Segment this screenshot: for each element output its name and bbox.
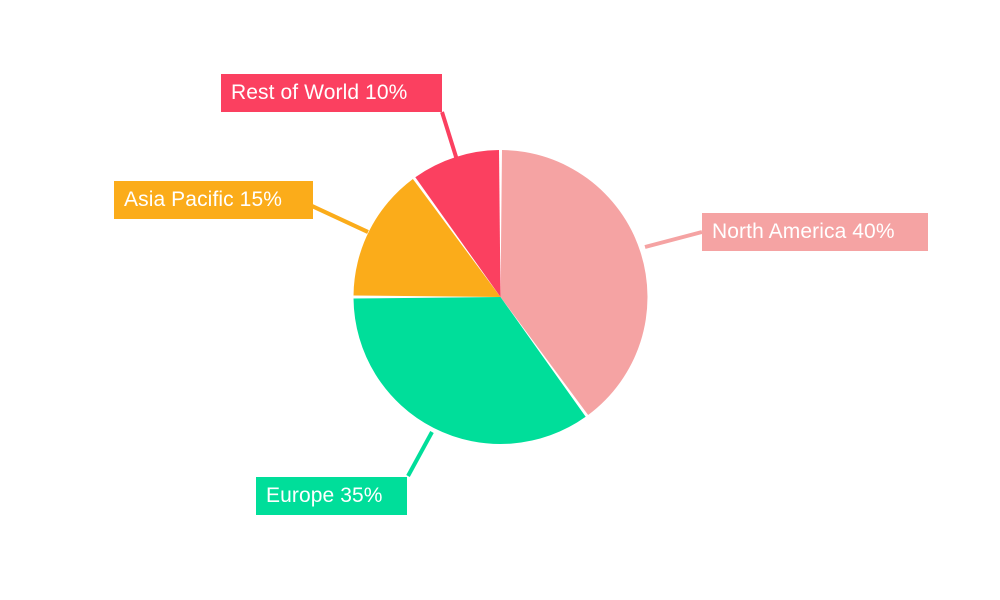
pie-chart-canvas <box>0 0 1000 600</box>
pie-chart-figure: North America 40% Europe 35% Asia Pacifi… <box>0 0 1000 600</box>
pie-label-text-europe: Europe 35% <box>266 477 383 515</box>
leader-line-north-america <box>645 232 702 247</box>
pie-label-asia-pacific[interactable]: Asia Pacific 15% <box>114 181 313 219</box>
leader-line-asia-pacific <box>312 206 368 232</box>
pie-label-europe[interactable]: Europe 35% <box>256 477 407 515</box>
leader-line-europe <box>408 432 432 476</box>
pie-label-text-north-america: North America 40% <box>712 213 895 251</box>
pie-label-rest-of-world[interactable]: Rest of World 10% <box>221 74 442 112</box>
pie-slice-group <box>354 150 648 444</box>
leader-line-rest-of-world <box>442 112 457 160</box>
pie-label-text-rest-of-world: Rest of World 10% <box>231 74 407 112</box>
pie-label-text-asia-pacific: Asia Pacific 15% <box>124 181 282 219</box>
pie-label-north-america[interactable]: North America 40% <box>702 213 928 251</box>
